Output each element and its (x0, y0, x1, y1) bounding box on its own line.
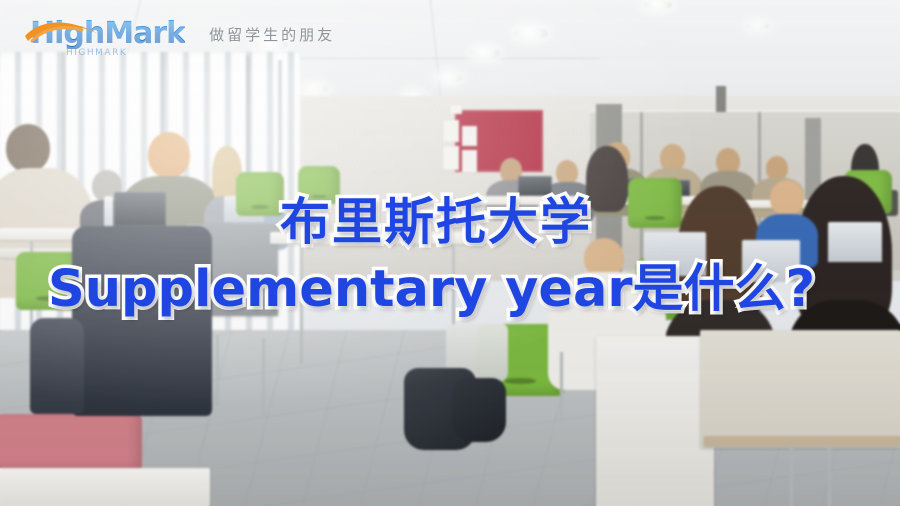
ceiling-light-icon (747, 22, 769, 30)
ceiling-light-icon (436, 73, 462, 83)
poster-image: HighMark HIGHMARK 做留学生的朋友 布里斯托大学 Supplem… (0, 0, 900, 506)
brand-tagline: 做留学生的朋友 (209, 24, 335, 45)
laptop-icon (828, 222, 882, 262)
notice-paper (443, 146, 459, 170)
desk-leg (262, 338, 265, 416)
coat (72, 226, 212, 416)
coat (30, 318, 84, 414)
chair (628, 178, 682, 228)
desk-leg (300, 244, 303, 364)
laptop-icon (742, 240, 800, 282)
chair (236, 172, 284, 216)
desk-leg (790, 446, 793, 506)
logo-mark: HighMark HIGHMARK (30, 14, 185, 54)
logo-subtext: HIGHMARK (66, 48, 127, 58)
background-photo (0, 0, 900, 506)
ceiling-light-icon (470, 47, 500, 59)
desk-edge (704, 436, 900, 446)
desk (700, 330, 900, 448)
desk-leg (216, 336, 219, 406)
laptop-icon (518, 176, 552, 196)
chair (16, 252, 80, 310)
ceiling-light-icon (644, 0, 672, 10)
ceiling-drop (716, 86, 726, 112)
chair (298, 166, 340, 204)
backpack (452, 378, 506, 442)
ceiling-light-icon (300, 84, 328, 95)
desk (0, 468, 210, 506)
notice-paper (450, 105, 462, 114)
desk-panel (596, 336, 714, 506)
desk-leg (560, 352, 563, 424)
ceiling-light-icon (514, 27, 548, 40)
notice-paper (443, 120, 459, 142)
desk-leg (828, 446, 831, 506)
laptop-icon (644, 232, 706, 276)
desk (270, 232, 480, 244)
logo-wordmark: HighMark (30, 19, 185, 49)
laptop-icon (114, 192, 166, 226)
brand-logo[interactable]: HighMark HIGHMARK 做留学生的朋友 (30, 14, 335, 54)
notice-paper (462, 126, 477, 146)
chair (0, 414, 142, 472)
notice-paper (462, 150, 477, 172)
